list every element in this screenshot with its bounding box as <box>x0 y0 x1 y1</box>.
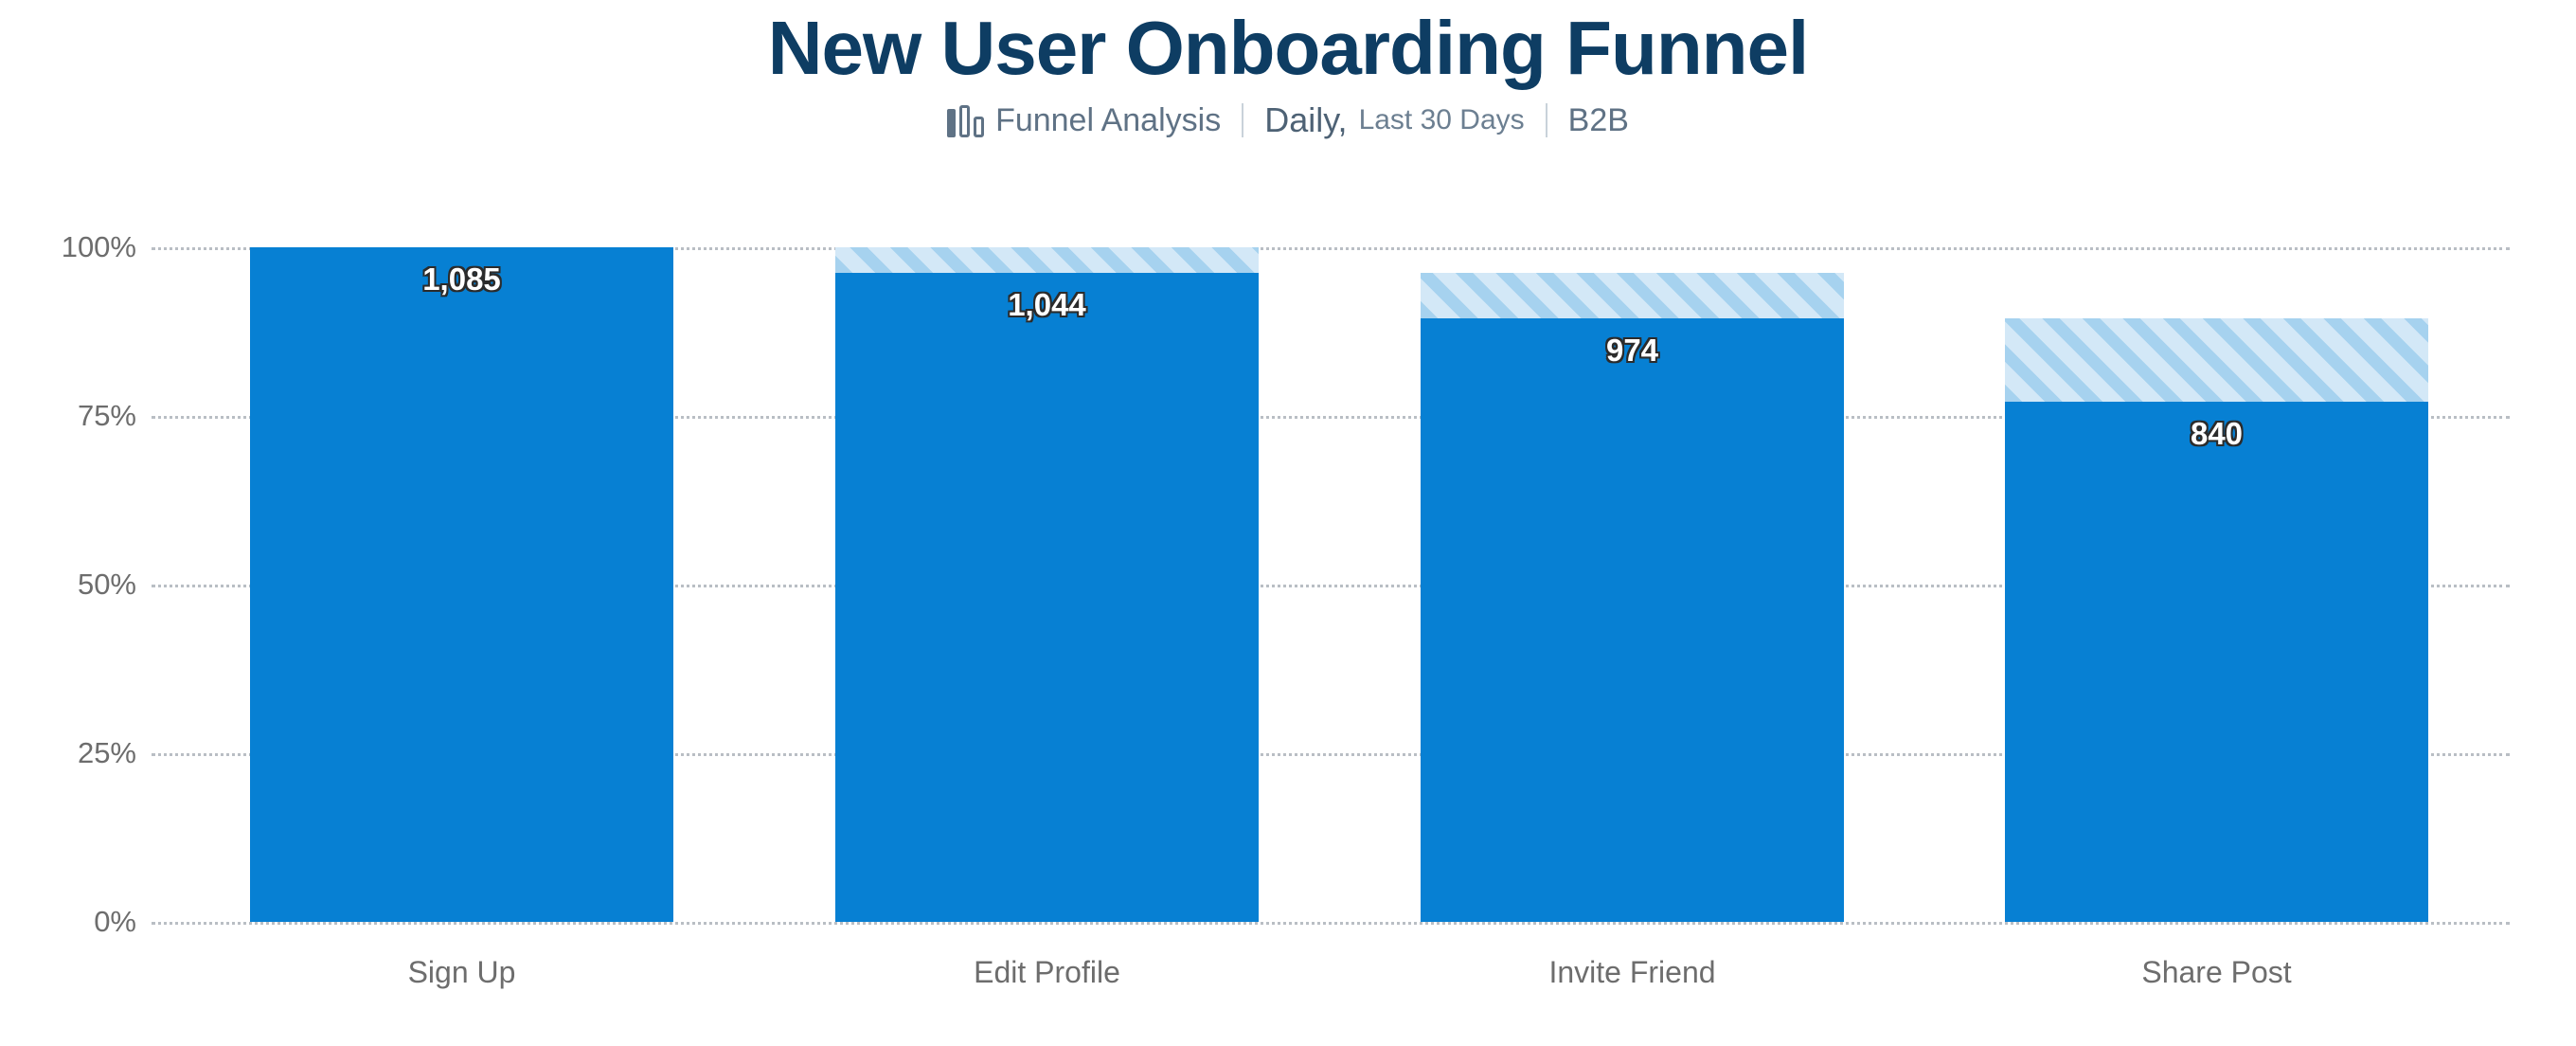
bar-dropoff-hatch <box>2005 318 2428 402</box>
ytick-label: 100% <box>13 230 136 264</box>
ytick-label: 25% <box>13 736 136 770</box>
bar-value-label: 1,085 <box>250 261 673 298</box>
ytick-label: 50% <box>13 568 136 602</box>
bar-group-share-post[interactable]: 840 <box>2005 0 2428 1046</box>
date-range-label: Last 30 Days <box>1359 106 1525 135</box>
gridline-0 <box>152 922 2510 925</box>
subtitle-cadence-segment: Daily, Last 30 Days <box>1243 103 1545 137</box>
bar-value-label: 840 <box>2005 416 2428 452</box>
page-title: New User Onboarding Funnel <box>0 9 2576 87</box>
bar-value-label: 974 <box>1421 333 1844 369</box>
xaxis-label-edit-profile: Edit Profile <box>835 955 1259 990</box>
chart-header: New User Onboarding Funnel Funnel Analys… <box>0 0 2576 142</box>
cadence-label: Daily, <box>1264 103 1347 137</box>
ytick-label: 75% <box>13 399 136 433</box>
bar-fill[interactable] <box>250 247 673 922</box>
bar-fill[interactable] <box>1421 318 1844 922</box>
bar-dropoff-hatch <box>835 247 1259 273</box>
xaxis-label-invite-friend: Invite Friend <box>1421 955 1844 990</box>
funnel-chart-plot: 100% 75% 50% 25% 0% 1,085 1,044 974 840 <box>0 0 2576 1046</box>
subtitle-analysis-segment: Funnel Analysis <box>926 103 1242 137</box>
xaxis-label-share-post: Share Post <box>2005 955 2428 990</box>
bar-fill[interactable] <box>835 273 1259 922</box>
ytick-label: 0% <box>13 905 136 939</box>
gridline-100 <box>152 247 2510 250</box>
subtitle-bar: Funnel Analysis Daily, Last 30 Days B2B <box>0 99 2576 142</box>
bar-chart-icon <box>947 103 984 137</box>
bar-dropoff-hatch <box>1421 273 1844 318</box>
gridline-75 <box>152 416 2510 419</box>
subtitle-segment-segment: B2B <box>1547 104 1650 136</box>
gridline-25 <box>152 753 2510 756</box>
plot-inner: 100% 75% 50% 25% 0% 1,085 1,044 974 840 <box>0 0 2576 1046</box>
bar-fill[interactable] <box>2005 402 2428 922</box>
bar-group-edit-profile[interactable]: 1,044 <box>835 0 1259 1046</box>
bar-group-sign-up[interactable]: 1,085 <box>250 0 673 1046</box>
audience-segment-label: B2B <box>1568 104 1629 136</box>
bar-group-invite-friend[interactable]: 974 <box>1421 0 1844 1046</box>
bar-value-label: 1,044 <box>835 287 1259 323</box>
gridline-50 <box>152 585 2510 587</box>
xaxis-label-sign-up: Sign Up <box>250 955 673 990</box>
analysis-type-label: Funnel Analysis <box>995 104 1221 136</box>
